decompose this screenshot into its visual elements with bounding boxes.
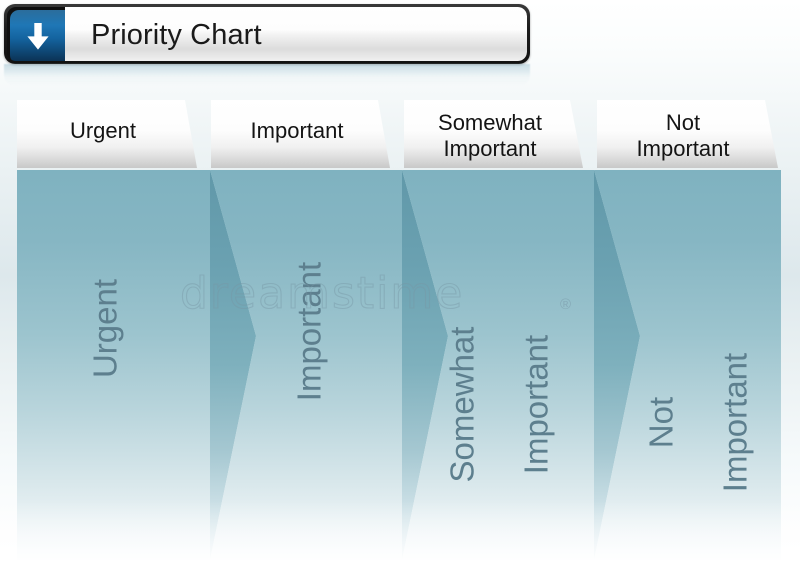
column-important-header [211, 100, 390, 168]
page-canvas: Priority Chart [0, 0, 800, 574]
priority-chart [0, 0, 800, 574]
column-urgent [17, 100, 256, 560]
bottom-fade [0, 500, 800, 574]
column-somewhat-important-header [404, 100, 583, 168]
column-not-important-header [597, 100, 778, 168]
column-urgent-header [17, 100, 197, 168]
